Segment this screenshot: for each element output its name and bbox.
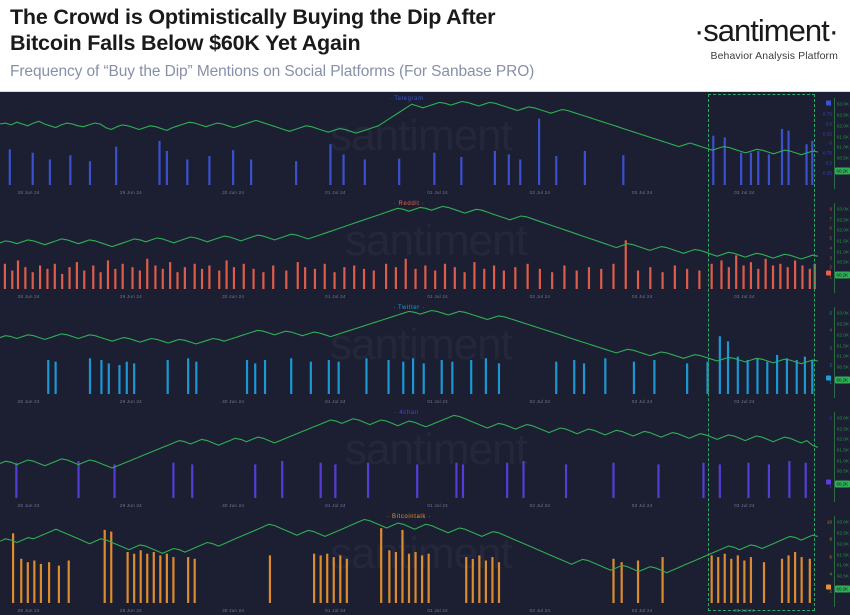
chart-panel-twitter[interactable]: santiment· Twitter ·28 Jun 2429 Jun 2430… xyxy=(0,301,850,406)
x-axis: 28 Jun 2429 Jun 2430 Jun 2401 Jul 2401 J… xyxy=(0,186,818,195)
mention-bar xyxy=(743,561,745,604)
mention-bar xyxy=(365,358,367,394)
x-axis-tick: 28 Jun 24 xyxy=(18,608,40,613)
x-axis-tick: 02 Jul 24 xyxy=(530,503,550,508)
mentions-current-marker xyxy=(826,585,831,590)
price-line xyxy=(0,102,818,155)
mentions-axis-label: 4 xyxy=(829,328,832,333)
price-axis-label: 62.5K xyxy=(837,530,849,535)
mention-bar xyxy=(588,267,590,289)
price-axis-label: 62.5K xyxy=(837,112,849,117)
mention-bar xyxy=(478,555,480,603)
mention-bar xyxy=(485,561,487,604)
mention-bar xyxy=(33,561,35,604)
mention-bar xyxy=(551,272,553,289)
mention-bar xyxy=(434,271,436,289)
mention-bar xyxy=(421,555,423,603)
mention-bar xyxy=(805,144,807,185)
mention-bar xyxy=(604,358,606,394)
price-axis-label: 62.5K xyxy=(837,426,849,431)
mention-bar xyxy=(809,269,811,289)
mention-bar xyxy=(788,461,790,498)
mention-bar xyxy=(169,262,171,289)
mention-bar xyxy=(612,559,614,603)
mention-bar xyxy=(724,554,726,603)
mention-bar xyxy=(339,555,341,603)
mention-bar xyxy=(794,260,796,289)
x-axis-tick: 03 Jul 24 xyxy=(632,503,652,508)
mention-bar xyxy=(363,269,365,289)
mention-bar xyxy=(32,153,34,185)
mention-bar xyxy=(353,265,355,289)
mention-bar xyxy=(364,160,366,186)
x-axis-tick: 02 Jul 24 xyxy=(530,608,550,613)
mention-bar xyxy=(485,358,487,394)
mention-bar xyxy=(625,240,627,289)
mention-bar xyxy=(290,358,292,394)
mention-bar xyxy=(498,363,500,394)
mention-bar xyxy=(483,269,485,289)
price-y-axis: 63.0K62.5K62.0K61.5K61.0K60.5K60.0K60.2K xyxy=(834,510,850,615)
x-axis-tick: 28 Jun 24 xyxy=(18,190,40,195)
mention-bar xyxy=(166,554,168,603)
price-axis-label: 62.0K xyxy=(837,228,849,233)
mention-bar xyxy=(711,555,713,603)
mention-bar xyxy=(717,557,719,603)
x-axis-tick: 02 Jul 24 xyxy=(530,399,550,404)
mention-bar xyxy=(140,550,142,603)
x-axis-tick: 03 Jul 24 xyxy=(734,190,754,195)
mention-bar xyxy=(786,358,788,394)
price-axis-label: 60.0K xyxy=(837,167,849,172)
panel-plot-svg xyxy=(0,510,818,605)
mention-bar xyxy=(600,269,602,289)
mention-bar xyxy=(233,267,235,289)
mention-bar xyxy=(159,555,161,603)
mention-bar xyxy=(367,463,369,498)
mention-bar xyxy=(757,151,759,185)
mentions-axis-label: 0.25 xyxy=(823,131,832,136)
mention-bar xyxy=(766,362,768,394)
price-axis-line xyxy=(834,203,835,293)
mentions-axis-label: 8 xyxy=(829,537,832,542)
x-axis-tick: 03 Jul 24 xyxy=(734,608,754,613)
mention-bar xyxy=(583,363,585,394)
mention-bar xyxy=(89,161,91,185)
mention-bar xyxy=(343,267,345,289)
price-y-axis: 63.0K62.5K62.0K61.5K61.0K60.5K60.0K60.2K xyxy=(834,406,850,510)
mention-bar xyxy=(814,264,816,289)
x-axis-tick: 29 Jun 24 xyxy=(120,608,142,613)
mentions-axis-label: 4 xyxy=(829,245,832,250)
price-axis-label: 60.5K xyxy=(837,260,849,265)
mentions-axis-label: 3 xyxy=(829,255,832,260)
mention-bar xyxy=(555,156,557,185)
x-axis-tick: 30 Jun 24 xyxy=(222,190,244,195)
mention-bar xyxy=(172,557,174,603)
mention-bar xyxy=(387,360,389,394)
mentions-axis-label: 6 xyxy=(829,226,832,231)
mentions-axis-label: 1 xyxy=(829,380,832,385)
mention-bar xyxy=(47,360,49,394)
price-axis-label: 61.5K xyxy=(837,552,849,557)
mention-bar xyxy=(724,137,726,185)
mention-bar xyxy=(254,363,256,394)
brand-block: ·santiment· Behavior Analysis Platform xyxy=(694,14,838,62)
x-axis-tick: 01 Jul 24 xyxy=(427,399,447,404)
mention-bar xyxy=(460,157,462,185)
mention-bar xyxy=(809,559,811,603)
mention-bar xyxy=(416,464,418,498)
chart-panel-reddit[interactable]: santiment· Reddit ·28 Jun 2429 Jun 2430 … xyxy=(0,197,850,301)
mention-bar xyxy=(104,530,106,603)
mention-bar xyxy=(176,272,178,289)
price-axis-label: 61.0K xyxy=(837,249,849,254)
mention-bar xyxy=(657,464,659,498)
mention-bar xyxy=(114,269,116,289)
mention-bar xyxy=(472,559,474,603)
mentions-current-marker xyxy=(826,271,831,276)
mention-bar xyxy=(338,362,340,394)
mention-bar xyxy=(584,151,586,185)
chart-panel-bitcointalk[interactable]: santiment· Bitcointalk ·28 Jun 2429 Jun … xyxy=(0,510,850,615)
x-axis-tick: 01 Jul 24 xyxy=(325,399,345,404)
mention-bar xyxy=(737,555,739,603)
mention-bar xyxy=(153,552,155,603)
mentions-axis-label: 0.5 xyxy=(826,121,832,126)
mentions-axis-label: 2 xyxy=(829,416,832,421)
screenshot-root: The Crowd is Optimistically Buying the D… xyxy=(0,0,850,615)
mentions-axis-label: 4 xyxy=(829,571,832,576)
mention-bar xyxy=(131,267,133,289)
mention-bar xyxy=(314,269,316,289)
x-axis-tick: 01 Jul 24 xyxy=(325,294,345,299)
x-axis-tick: 01 Jul 24 xyxy=(325,503,345,508)
mention-bar xyxy=(32,272,34,289)
mention-bar xyxy=(493,265,495,289)
x-axis: 28 Jun 2429 Jun 2430 Jun 2401 Jul 2401 J… xyxy=(0,604,818,613)
price-axis-label: 60.0K xyxy=(837,480,849,485)
mentions-axis-label: 2 xyxy=(829,362,832,367)
price-axis-label: 63.0K xyxy=(837,311,849,316)
mention-bar xyxy=(89,358,91,394)
price-axis-label: 61.0K xyxy=(837,458,849,463)
mention-bar xyxy=(9,149,11,185)
mention-bar xyxy=(473,262,475,289)
price-axis-label: 63.0K xyxy=(837,416,849,421)
mentions-axis-label: 0.25 xyxy=(823,171,832,176)
mention-bar xyxy=(118,365,120,394)
mention-bar xyxy=(27,562,29,603)
mention-bar xyxy=(113,464,115,498)
mentions-axis-label: 2 xyxy=(829,589,832,594)
mention-bar xyxy=(139,271,141,289)
price-axis-label: 60.5K xyxy=(837,574,849,579)
mention-bar xyxy=(796,360,798,394)
x-axis-tick: 30 Jun 24 xyxy=(222,294,244,299)
mentions-current-marker xyxy=(826,376,831,381)
mention-bar xyxy=(757,269,759,289)
mention-bar xyxy=(414,269,416,289)
mention-bar xyxy=(68,561,70,604)
x-axis-tick: 29 Jun 24 xyxy=(120,503,142,508)
panel-plot-svg xyxy=(0,301,818,396)
panel-plot-svg xyxy=(0,406,818,500)
mention-bar xyxy=(48,562,50,603)
mention-bar xyxy=(702,463,704,498)
mention-bar xyxy=(254,464,256,498)
mentions-axis-label: 2 xyxy=(829,265,832,270)
mention-bar xyxy=(653,360,655,394)
brand-tagline: Behavior Analysis Platform xyxy=(694,50,838,62)
mention-bar xyxy=(712,136,714,185)
mention-bar xyxy=(737,357,739,394)
mention-bar xyxy=(503,271,505,289)
mention-bar xyxy=(333,272,335,289)
mention-bar xyxy=(742,265,744,289)
mention-bar xyxy=(304,267,306,289)
mention-bar xyxy=(388,550,390,603)
price-axis-label: 62.5K xyxy=(837,217,849,222)
price-axis-label: 60.5K xyxy=(837,469,849,474)
mention-bar xyxy=(779,264,781,289)
price-axis-label: 61.5K xyxy=(837,343,849,348)
mention-bar xyxy=(811,360,813,394)
mention-bar xyxy=(12,533,14,603)
mention-bar xyxy=(83,271,85,289)
price-axis-label: 62.0K xyxy=(837,123,849,128)
mention-bar xyxy=(246,360,248,394)
price-axis-label: 60.5K xyxy=(837,156,849,161)
price-current-badge: 60.2K xyxy=(835,481,850,488)
mention-bar xyxy=(328,360,330,394)
mention-bar xyxy=(295,161,297,185)
mention-bar xyxy=(573,360,575,394)
mention-bar xyxy=(781,129,783,185)
mention-bar xyxy=(506,463,508,498)
mention-bar xyxy=(250,160,252,186)
mention-bar xyxy=(522,461,524,498)
price-current-badge: 60.2K xyxy=(835,168,850,175)
mention-bar xyxy=(451,362,453,394)
mention-bar xyxy=(787,267,789,289)
mentions-axis-label: 1 xyxy=(829,102,832,107)
mention-bar xyxy=(15,463,17,498)
mention-bar xyxy=(747,463,749,498)
mention-bar xyxy=(20,559,22,603)
mention-bar xyxy=(637,271,639,289)
mention-bar xyxy=(187,557,189,603)
mention-bar xyxy=(194,559,196,603)
chart-area: santiment· Telegram ·28 Jun 2429 Jun 243… xyxy=(0,92,850,615)
mention-bar xyxy=(519,160,521,186)
mentions-axis-label: 0 xyxy=(829,141,832,146)
mention-bar xyxy=(455,463,457,498)
mention-bar xyxy=(172,463,174,498)
mention-bar xyxy=(772,265,774,289)
mention-bar xyxy=(310,362,312,394)
mention-bar xyxy=(297,262,299,289)
mention-bar xyxy=(494,151,496,185)
mention-bar xyxy=(108,363,110,394)
mention-bar xyxy=(115,147,117,185)
price-line xyxy=(0,311,818,364)
mention-bar xyxy=(100,360,102,394)
mention-bar xyxy=(750,153,752,185)
mention-bar xyxy=(698,271,700,289)
price-current-badge: 60.2K xyxy=(835,586,850,593)
mention-bar xyxy=(706,362,708,394)
mention-bar xyxy=(158,141,160,185)
x-axis-tick: 29 Jun 24 xyxy=(120,190,142,195)
chart-panel-telegram[interactable]: santiment· Telegram ·28 Jun 2429 Jun 243… xyxy=(0,92,850,197)
price-line xyxy=(0,206,818,259)
mention-bar xyxy=(252,269,254,289)
mention-bar xyxy=(243,264,245,289)
mention-bar xyxy=(576,271,578,289)
mention-bar xyxy=(167,360,169,394)
mentions-current-marker xyxy=(826,101,831,106)
mention-bar xyxy=(127,552,129,603)
mention-bar xyxy=(405,259,407,289)
price-axis-label: 60.0K xyxy=(837,376,849,381)
mention-bar xyxy=(433,153,435,185)
mention-bar xyxy=(107,260,109,289)
mention-bar xyxy=(385,264,387,289)
mention-bar xyxy=(730,559,732,603)
mention-bar xyxy=(68,267,70,289)
mentions-axis-label: 3 xyxy=(829,345,832,350)
mention-bar xyxy=(719,464,721,498)
mention-bar xyxy=(621,562,623,603)
mention-bar xyxy=(154,265,156,289)
mention-bar xyxy=(686,269,688,289)
mention-bar xyxy=(424,265,426,289)
mention-bar xyxy=(225,260,227,289)
mentions-axis-label: 0.75 xyxy=(823,111,832,116)
mention-bar xyxy=(768,464,770,498)
mention-bar xyxy=(133,363,135,394)
price-axis-label: 61.0K xyxy=(837,145,849,150)
mention-bar xyxy=(674,265,676,289)
mention-bar xyxy=(444,264,446,289)
price-axis-line xyxy=(834,516,835,607)
mention-bar xyxy=(728,267,730,289)
mentions-axis-label: 0.75 xyxy=(823,151,832,156)
price-axis-label: 61.5K xyxy=(837,448,849,453)
mention-bar xyxy=(398,159,400,185)
x-axis-tick: 01 Jul 24 xyxy=(427,608,447,613)
price-axis-label: 62.0K xyxy=(837,541,849,546)
x-axis-tick: 28 Jun 24 xyxy=(18,503,40,508)
mention-bar xyxy=(408,554,410,603)
mention-bar xyxy=(491,557,493,603)
price-axis-line xyxy=(834,98,835,189)
mentions-axis-label: 6 xyxy=(829,554,832,559)
mention-bar xyxy=(395,552,397,603)
x-axis-tick: 30 Jun 24 xyxy=(222,399,244,404)
mention-bar xyxy=(612,264,614,289)
x-axis-tick: 03 Jul 24 xyxy=(632,190,652,195)
mention-bar xyxy=(637,561,639,604)
mention-bar xyxy=(633,362,635,394)
mention-bar xyxy=(441,360,443,394)
mention-bar xyxy=(649,267,651,289)
page-title: The Crowd is Optimistically Buying the D… xyxy=(10,4,630,56)
mention-bar xyxy=(527,264,529,289)
mention-bar xyxy=(281,461,283,498)
mention-bar xyxy=(69,155,71,185)
x-axis-tick: 03 Jul 24 xyxy=(734,503,754,508)
mention-bar xyxy=(423,363,425,394)
chart-panel-4chan[interactable]: santiment· 4chan ·28 Jun 2429 Jun 2430 J… xyxy=(0,406,850,510)
mention-bar xyxy=(787,131,789,185)
mention-bar xyxy=(269,555,271,603)
price-axis-label: 63.0K xyxy=(837,102,849,107)
x-axis-tick: 02 Jul 24 xyxy=(530,190,550,195)
mention-bar xyxy=(313,554,315,603)
mention-bar xyxy=(470,360,472,394)
mention-bar xyxy=(100,272,102,289)
mention-bar xyxy=(498,562,500,603)
mention-bar xyxy=(262,272,264,289)
mention-bar xyxy=(24,267,26,289)
price-axis-label: 62.5K xyxy=(837,321,849,326)
mentions-y-axis: 87654321 xyxy=(817,197,833,301)
mention-bar xyxy=(801,557,803,603)
header-text-block: The Crowd is Optimistically Buying the D… xyxy=(10,4,630,81)
mention-bar xyxy=(768,154,770,185)
mention-bar xyxy=(11,271,13,289)
mentions-axis-label: 1 xyxy=(829,484,832,489)
panel-plot-svg xyxy=(0,197,818,291)
mention-bar xyxy=(747,360,749,394)
mention-bar xyxy=(61,274,63,289)
mention-bar xyxy=(412,358,414,394)
mention-bar xyxy=(320,555,322,603)
x-axis-tick: 02 Jul 24 xyxy=(530,294,550,299)
x-axis-tick: 01 Jul 24 xyxy=(325,190,345,195)
x-axis: 28 Jun 2429 Jun 2430 Jun 2401 Jul 2401 J… xyxy=(0,395,818,404)
mention-bar xyxy=(58,566,60,603)
mention-bar xyxy=(320,463,322,498)
mention-bar xyxy=(464,272,466,289)
mention-bar xyxy=(55,362,57,394)
mention-bar xyxy=(765,259,767,289)
mention-bar xyxy=(49,160,51,186)
mention-bar xyxy=(801,265,803,289)
mention-bar xyxy=(711,264,713,289)
mention-bar xyxy=(264,360,266,394)
mention-bar xyxy=(162,269,164,289)
x-axis-tick: 28 Jun 24 xyxy=(18,294,40,299)
page-subtitle: Frequency of “Buy the Dip” Mentions on S… xyxy=(10,63,630,81)
mention-bar xyxy=(661,557,663,603)
price-axis-line xyxy=(834,307,835,398)
mentions-axis-label: 8 xyxy=(829,207,832,212)
mention-bar xyxy=(373,271,375,289)
x-axis-tick: 03 Jul 24 xyxy=(632,399,652,404)
mentions-y-axis: 10.750.50.2500.750.50.25 xyxy=(817,92,833,197)
mention-bar xyxy=(612,463,614,498)
mentions-axis-label: 7 xyxy=(829,216,832,221)
x-axis-tick: 03 Jul 24 xyxy=(734,294,754,299)
mention-bar xyxy=(92,265,94,289)
price-y-axis: 63.0K62.5K62.0K61.5K61.0K60.5K60.0K60.2K xyxy=(834,197,850,301)
price-axis-label: 61.5K xyxy=(837,134,849,139)
x-axis-tick: 03 Jul 24 xyxy=(734,399,754,404)
x-axis: 28 Jun 2429 Jun 2430 Jun 2401 Jul 2401 J… xyxy=(0,290,818,299)
